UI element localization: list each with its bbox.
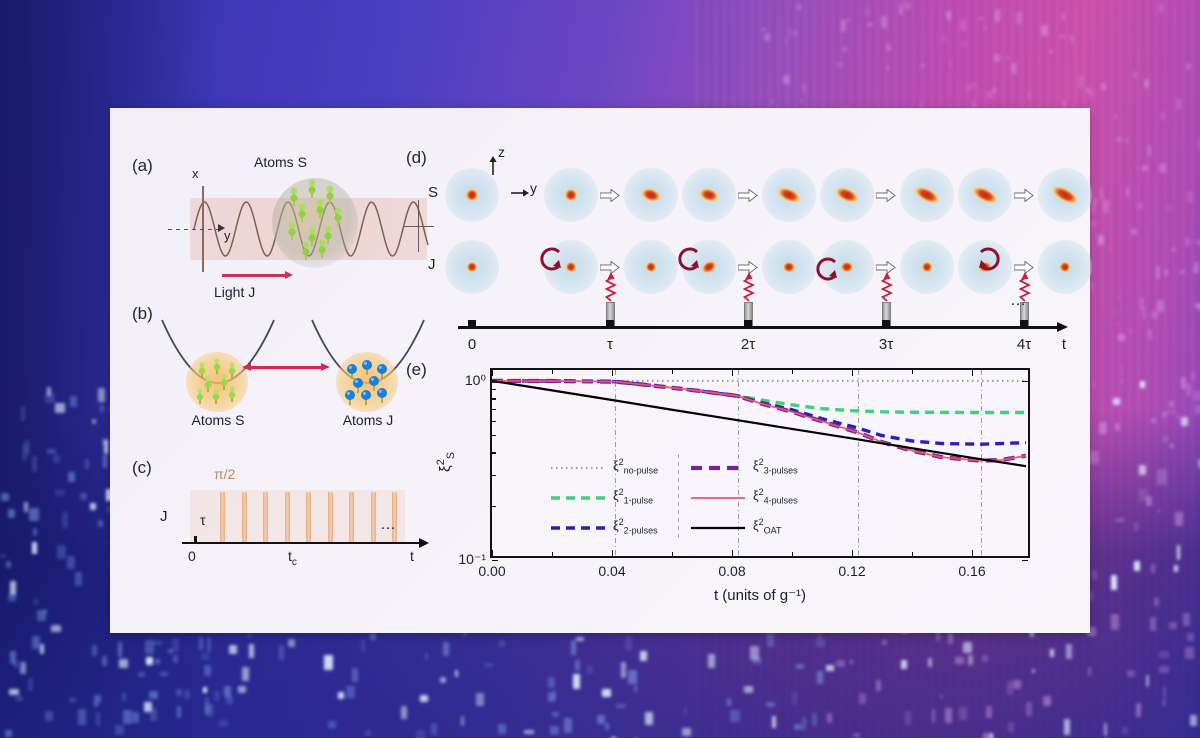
wigner-core (682, 168, 736, 222)
channel-j-label: J (160, 508, 168, 525)
wigner-blob (682, 168, 736, 222)
wigner-core (1038, 168, 1092, 222)
panel-e-tag: (e) (406, 360, 427, 380)
time-axis-zero-tick (194, 536, 197, 543)
laser-beam-icon (881, 272, 893, 302)
wigner-core (762, 168, 816, 222)
evolution-arrow (876, 189, 896, 202)
time-axis-mark (882, 320, 890, 328)
laser-beam-icon (743, 272, 755, 302)
chart-x-tick-top (612, 370, 613, 376)
rotation-arrow (676, 246, 702, 272)
wigner-core (900, 240, 954, 294)
chart-y-tick (492, 381, 498, 382)
chart-y-minor-tick (492, 506, 496, 507)
chart-series-line (492, 381, 1026, 413)
wigner-blob (624, 240, 678, 294)
wigner-blob (762, 240, 816, 294)
legend-line-sample (550, 462, 606, 472)
chart-x-tick-label: 0.04 (598, 563, 625, 579)
pulse-bar (263, 492, 268, 542)
chart-x-tick-label: 0.00 (478, 563, 505, 579)
chart-y-minor-tick (492, 389, 496, 390)
spin-arrows-j (336, 352, 398, 412)
evolution-arrow (1014, 189, 1034, 202)
chart-plot-frame: 10⁰10⁻¹ 0.000.040.080.120.16 ξ2no-pulseξ… (490, 368, 1030, 558)
wigner-blob (820, 168, 874, 222)
axis-y-arrow (510, 186, 530, 200)
light-direction-arrow (222, 274, 286, 277)
chart-y-axis-label: ξ2S (435, 452, 457, 472)
row-label-j: J (428, 256, 436, 273)
legend-entry: ξ21-pulse (550, 482, 658, 512)
legend-swatch (690, 462, 746, 474)
time-axis (182, 542, 420, 544)
legend-line-sample (690, 462, 746, 472)
legend-swatch (550, 462, 606, 474)
panel-d-tag: (d) (406, 148, 427, 168)
chart-x-tick-top (732, 370, 733, 376)
evolution-arrow (738, 189, 758, 202)
chart-x-tick (852, 550, 853, 556)
chart-y-minor-tick (492, 475, 496, 476)
legend-entry-label: ξ2OAT (753, 518, 781, 536)
chart-x-tick-label: 0.16 (958, 563, 985, 579)
chart-x-minor-tick-top (792, 370, 793, 374)
chart-x-axis-label: t (units of g⁻¹) (490, 586, 1030, 604)
wigner-core (624, 240, 678, 294)
chart-x-tick-label: 0.12 (838, 563, 865, 579)
chart-x-minor-tick-top (552, 370, 553, 374)
light-j-label: Light J (214, 284, 255, 300)
wigner-core (445, 240, 499, 294)
wigner-blob (445, 168, 499, 222)
trap-well-s (154, 318, 282, 424)
panel-e: (e) ξ2S 10⁰10⁻¹ 0.000.040.080.120.16 ξ2n… (410, 356, 1075, 624)
pulse-bar (306, 492, 311, 542)
chart-x-tick (492, 550, 493, 556)
chart-y-minor-tick (492, 398, 496, 399)
legend-entry-label: ξ2no-pulse (613, 458, 658, 476)
chart-x-minor-tick (672, 552, 673, 556)
y-axis-label-text: ξ2S (437, 452, 454, 472)
wigner-core (900, 168, 954, 222)
evolution-arrow (600, 189, 620, 202)
chart-x-minor-tick-top (672, 370, 673, 374)
row-label-s: S (428, 184, 438, 201)
wigner-blob (1038, 240, 1092, 294)
time-axis-mark (606, 320, 614, 328)
wigner-blob (624, 168, 678, 222)
axis-y-label: y (530, 180, 537, 196)
atom-cloud-s (186, 352, 248, 412)
wigner-core (624, 168, 678, 222)
chart-x-minor-tick (912, 552, 913, 556)
legend-line-sample (690, 522, 746, 532)
rotation-arrow (538, 246, 564, 272)
chart-y-tick-right (1022, 381, 1028, 382)
legend-swatch (550, 522, 606, 534)
wigner-blob (958, 168, 1012, 222)
wigner-core (544, 168, 598, 222)
pulse-bar (328, 492, 333, 542)
chart-y-tick (492, 560, 498, 561)
ellipsis-label: … (1010, 292, 1028, 310)
wigner-core (762, 240, 816, 294)
chart-x-tick (732, 550, 733, 556)
rotation-arrow (976, 246, 1002, 272)
legend-entry: ξ24-pulses (690, 482, 798, 512)
chart-x-minor-tick (552, 552, 553, 556)
chart-x-tick-top (852, 370, 853, 376)
axis-y-label: y (224, 228, 231, 243)
axis-x-label: x (192, 166, 199, 181)
panel-b: (b) Atoms S Atoms J (132, 304, 437, 464)
wigner-blob (762, 168, 816, 222)
legend-column-right: ξ23-pulsesξ24-pulsesξ2OAT (690, 452, 798, 542)
chart-x-tick-top (972, 370, 973, 376)
pulse-bar (220, 492, 225, 542)
legend-swatch (690, 522, 746, 534)
atom-cloud-s (272, 178, 358, 268)
chart-y-tick-label: 10⁰ (465, 372, 486, 389)
panel-d: (d) z y S J 0τ2τ3τ4τ … t (410, 150, 1075, 362)
wigner-blob (445, 240, 499, 294)
time-axis (458, 326, 1058, 329)
pulse-bar (242, 492, 247, 542)
legend-divider (678, 454, 679, 538)
legend-entry-label: ξ23-pulses (753, 458, 798, 476)
chart-x-tick (612, 550, 613, 556)
legend-swatch (550, 492, 606, 504)
wigner-core (958, 168, 1012, 222)
time-axis-tick-label: τ (607, 336, 613, 353)
rotation-arrow (814, 256, 840, 282)
wigner-blob (1038, 168, 1092, 222)
legend-swatch (690, 492, 746, 504)
time-zero-label: 0 (188, 548, 196, 564)
chart-y-minor-tick (492, 435, 496, 436)
legend-entry-label: ξ22-pulses (613, 518, 658, 536)
wigner-core (1038, 240, 1092, 294)
wigner-core (820, 168, 874, 222)
atom-cloud-j (336, 352, 398, 412)
tau-label: τ (200, 512, 206, 528)
panel-c: (c) π/2 J τ 0 tc t … (132, 458, 437, 588)
legend-entry: ξ2OAT (690, 512, 798, 542)
legend-entry-label: ξ24-pulses (753, 488, 798, 506)
chart-y-minor-tick (492, 409, 496, 410)
legend-entry: ξ22-pulses (550, 512, 658, 542)
legend-entry-label: ξ21-pulse (613, 488, 653, 506)
time-axis-tick-label: 3τ (879, 336, 893, 353)
panel-b-tag: (b) (132, 304, 153, 324)
time-axis-tick-label: 2τ (741, 336, 755, 353)
time-axis-label: t (1062, 336, 1066, 353)
legend-entry: ξ2no-pulse (550, 452, 658, 482)
wigner-core (445, 168, 499, 222)
time-axis-mark (1020, 320, 1028, 328)
laser-beam-icon (605, 272, 617, 302)
chart-x-tick-top (492, 370, 493, 376)
ellipsis-label: … (380, 516, 398, 534)
wigner-blob (544, 168, 598, 222)
chart-x-tick (972, 550, 973, 556)
time-axis-mark (468, 320, 476, 328)
time-axis-tick-label: 4τ (1017, 336, 1031, 353)
chart-y-tick-right (1022, 560, 1028, 561)
atoms-s-label: Atoms S (154, 412, 282, 428)
chart-x-minor-tick (792, 552, 793, 556)
legend-line-sample (550, 522, 606, 532)
wigner-blob (900, 168, 954, 222)
spin-arrows-s (186, 352, 248, 412)
legend-entry: ξ23-pulses (690, 452, 798, 482)
pi-over-2-label: π/2 (214, 466, 235, 482)
chart-x-tick-label: 0.08 (718, 563, 745, 579)
chart-y-minor-tick (492, 421, 496, 422)
chart-y-minor-tick (492, 452, 496, 453)
axis-y-line (168, 229, 220, 230)
tc-label: tc (288, 548, 297, 568)
pulse-bar (285, 492, 290, 542)
wigner-blob (900, 240, 954, 294)
pulse-bar (371, 492, 376, 542)
pulse-bar (349, 492, 354, 542)
spin-arrows-s (272, 178, 358, 268)
chart-x-minor-tick-top (912, 370, 913, 374)
legend-line-sample (550, 492, 606, 502)
panel-c-tag: (c) (132, 458, 152, 478)
figure-card: (a) x y Atoms S Light J (b) Atoms S (110, 108, 1090, 633)
atoms-s-label: Atoms S (254, 154, 307, 170)
legend-column-left: ξ2no-pulseξ21-pulseξ22-pulses (550, 452, 658, 542)
legend-line-sample (690, 492, 746, 502)
time-axis-mark (744, 320, 752, 328)
time-axis-tick-label: 0 (468, 336, 476, 353)
